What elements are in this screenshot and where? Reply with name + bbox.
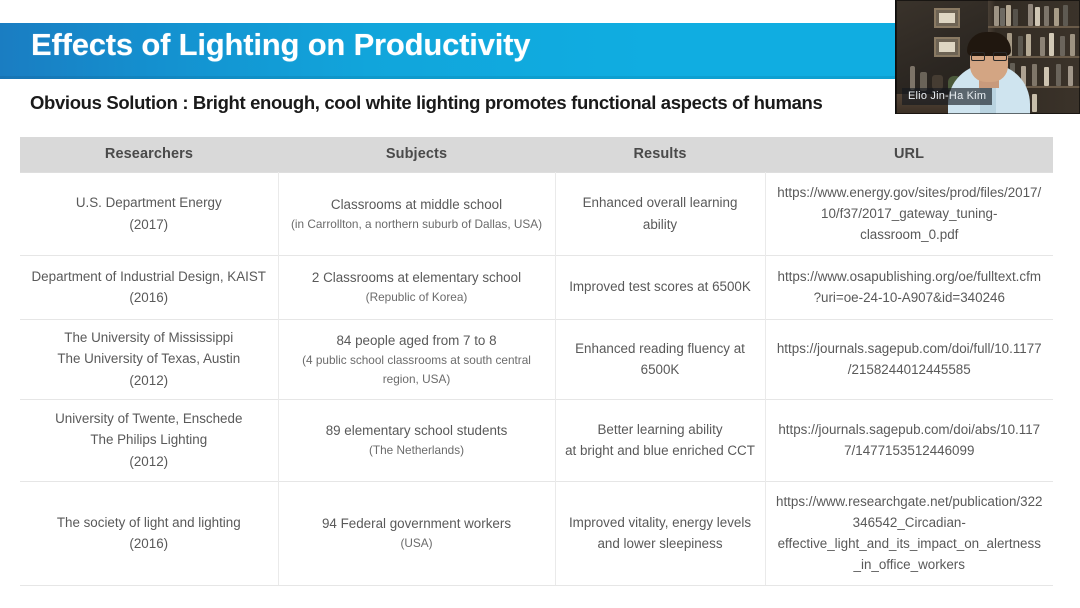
cell-results: Improved test scores at 6500K — [555, 255, 765, 319]
subject-sub: (The Netherlands) — [285, 441, 549, 460]
url-line[interactable]: effective_light_and_its_impact_on_alertn… — [772, 533, 1048, 554]
cell-subjects: 2 Classrooms at elementary school (Repub… — [278, 255, 555, 319]
result-line: Enhanced overall learning — [562, 192, 759, 213]
column-header-subjects: Subjects — [278, 137, 555, 172]
url-line[interactable]: https://journals.sagepub.com/doi/abs/10.… — [772, 419, 1048, 440]
researcher-name-2: The Philips Lighting — [26, 429, 272, 450]
cell-researchers: The society of light and lighting (2016) — [20, 481, 278, 585]
url-line[interactable]: /2158244012445585 — [772, 359, 1048, 380]
subject-sub: (in Carrollton, a northern suburb of Dal… — [285, 215, 549, 234]
studies-table-container: Researchers Subjects Results URL U.S. De… — [20, 137, 1053, 586]
eyeglasses — [971, 52, 1007, 62]
subject-main: 84 people aged from 7 to 8 — [285, 330, 549, 351]
table-row: U.S. Department Energy (2017) Classrooms… — [20, 172, 1053, 255]
result-line: Better learning ability — [562, 419, 759, 440]
researcher-year: (2012) — [26, 370, 272, 391]
researcher-name: Department of Industrial Design, KAIST — [26, 266, 272, 287]
cell-results: Improved vitality, energy levels and low… — [555, 481, 765, 585]
researcher-year: (2017) — [26, 214, 272, 235]
cell-results: Enhanced overall learning ability — [555, 172, 765, 255]
participant-name-label: Elio Jin-Ha Kim — [902, 88, 992, 105]
cell-subjects: Classrooms at middle school (in Carrollt… — [278, 172, 555, 255]
table-row: The University of Mississippi The Univer… — [20, 319, 1053, 399]
presentation-slide: Effects of Lighting on Productivity Obvi… — [0, 0, 1080, 608]
cell-researchers: University of Twente, Enschede The Phili… — [20, 399, 278, 481]
wall-picture-frame — [934, 8, 960, 28]
researcher-name: University of Twente, Enschede — [26, 408, 272, 429]
result-line: and lower sleepiness — [562, 533, 759, 554]
researcher-year: (2012) — [26, 451, 272, 472]
result-line: Enhanced reading fluency at — [562, 338, 759, 359]
url-line[interactable]: https://www.osapublishing.org/oe/fulltex… — [772, 266, 1048, 287]
cell-url[interactable]: https://journals.sagepub.com/doi/full/10… — [765, 319, 1053, 399]
slide-subtitle: Obvious Solution : Bright enough, cool w… — [30, 92, 930, 114]
url-line[interactable]: 10/f37/2017_gateway_tuning- — [772, 203, 1048, 224]
table-row: Department of Industrial Design, KAIST (… — [20, 255, 1053, 319]
column-header-researchers: Researchers — [20, 137, 278, 172]
cell-results: Better learning ability at bright and bl… — [555, 399, 765, 481]
subject-sub-2: region, USA) — [285, 370, 549, 389]
url-line[interactable]: 346542_Circadian- — [772, 512, 1048, 533]
subject-main: 2 Classrooms at elementary school — [285, 267, 549, 288]
subject-main: 89 elementary school students — [285, 420, 549, 441]
url-line[interactable]: 7/1477153512446099 — [772, 440, 1048, 461]
cell-subjects: 89 elementary school students (The Nethe… — [278, 399, 555, 481]
wall-picture-frame — [934, 37, 960, 57]
url-line[interactable]: _in_office_workers — [772, 554, 1048, 575]
cell-subjects: 94 Federal government workers (USA) — [278, 481, 555, 585]
subject-sub: (USA) — [285, 534, 549, 553]
researcher-name: The University of Mississippi — [26, 327, 272, 348]
result-line: Improved vitality, energy levels — [562, 512, 759, 533]
cell-researchers: Department of Industrial Design, KAIST (… — [20, 255, 278, 319]
column-header-url: URL — [765, 137, 1053, 172]
researcher-name-2: The University of Texas, Austin — [26, 348, 272, 369]
studies-table: Researchers Subjects Results URL U.S. De… — [20, 137, 1053, 586]
subject-sub: (Republic of Korea) — [285, 288, 549, 307]
result-line: Improved test scores at 6500K — [562, 276, 759, 297]
webcam-video-tile[interactable]: Elio Jin-Ha Kim — [895, 0, 1080, 114]
table-body: U.S. Department Energy (2017) Classrooms… — [20, 172, 1053, 585]
cell-researchers: The University of Mississippi The Univer… — [20, 319, 278, 399]
result-line: at bright and blue enriched CCT — [562, 440, 759, 461]
researcher-name: The society of light and lighting — [26, 512, 272, 533]
column-header-results: Results — [555, 137, 765, 172]
researcher-year: (2016) — [26, 287, 272, 308]
subject-main: Classrooms at middle school — [285, 194, 549, 215]
result-line: 6500K — [562, 359, 759, 380]
cell-url[interactable]: https://www.osapublishing.org/oe/fulltex… — [765, 255, 1053, 319]
url-line[interactable]: ?uri=oe-24-10-A907&id=340246 — [772, 287, 1048, 308]
result-line: ability — [562, 214, 759, 235]
cell-url[interactable]: https://www.researchgate.net/publication… — [765, 481, 1053, 585]
subject-main: 94 Federal government workers — [285, 513, 549, 534]
page-title: Effects of Lighting on Productivity — [31, 27, 530, 63]
url-line[interactable]: https://www.researchgate.net/publication… — [772, 491, 1048, 512]
researcher-year: (2016) — [26, 533, 272, 554]
desk-lamp — [910, 66, 915, 90]
cell-url[interactable]: https://www.energy.gov/sites/prod/files/… — [765, 172, 1053, 255]
url-line[interactable]: https://www.energy.gov/sites/prod/files/… — [772, 182, 1048, 203]
table-header: Researchers Subjects Results URL — [20, 137, 1053, 172]
cell-results: Enhanced reading fluency at 6500K — [555, 319, 765, 399]
table-header-row: Researchers Subjects Results URL — [20, 137, 1053, 172]
url-line[interactable]: classroom_0.pdf — [772, 224, 1048, 245]
table-row: The society of light and lighting (2016)… — [20, 481, 1053, 585]
url-line[interactable]: https://journals.sagepub.com/doi/full/10… — [772, 338, 1048, 359]
cell-subjects: 84 people aged from 7 to 8 (4 public sch… — [278, 319, 555, 399]
table-row: University of Twente, Enschede The Phili… — [20, 399, 1053, 481]
cell-url[interactable]: https://journals.sagepub.com/doi/abs/10.… — [765, 399, 1053, 481]
researcher-name: U.S. Department Energy — [26, 192, 272, 213]
cell-researchers: U.S. Department Energy (2017) — [20, 172, 278, 255]
subject-sub: (4 public school classrooms at south cen… — [285, 351, 549, 370]
